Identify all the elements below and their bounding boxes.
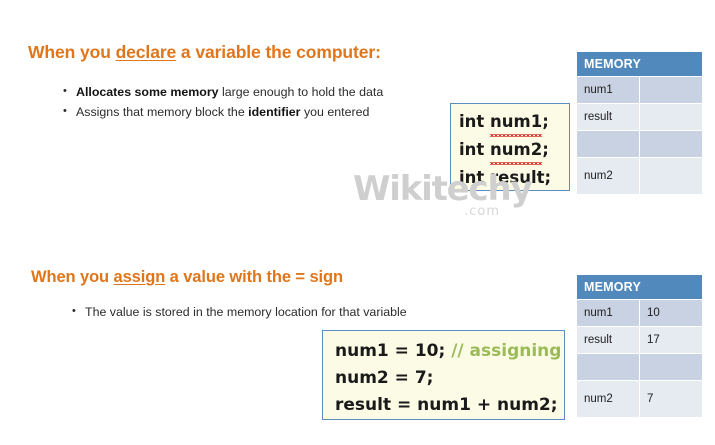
slide-canvas: When you declare a variable the computer… — [0, 0, 715, 445]
bullet-text-pre: Assigns that memory block the — [76, 105, 248, 119]
code-statement: num1 = 10; — [335, 341, 451, 361]
table-row: num1 10 — [577, 300, 702, 326]
code-block-declarations: int num1; int num2; int result; — [450, 103, 570, 191]
list-item: The value is stored in the memory locati… — [72, 302, 407, 322]
memory-cell-name: result — [577, 104, 639, 130]
code-line: int result; — [459, 165, 569, 191]
page-title-declare: When you declare a variable the computer… — [28, 42, 381, 63]
memory-cell-name: num1 — [577, 77, 639, 103]
memory-cell-name: result — [577, 327, 639, 353]
heading-declare-emphasis: declare — [116, 42, 177, 62]
table-row: result — [577, 104, 702, 130]
code-line: result = num1 + num2; — [335, 392, 564, 419]
memory-cell-name: num2 — [577, 381, 639, 417]
bullet-bold-text: Allocates some memory — [76, 85, 219, 99]
watermark-domain: .com — [464, 204, 500, 219]
memory-cell-name — [577, 131, 639, 157]
code-tail: ; — [542, 112, 549, 131]
bullet-text: The value is stored in the memory locati… — [85, 305, 407, 319]
memory-cell-name — [577, 354, 639, 380]
bullet-list-declare: Allocates some memory large enough to ho… — [63, 82, 383, 122]
heading-assign-emphasis: assign — [114, 268, 166, 286]
code-comment: // assigning — [451, 341, 561, 361]
table-row: num1 — [577, 77, 702, 103]
table-header-row: MEMORY — [577, 275, 702, 299]
bullet-text: you entered — [301, 105, 370, 119]
code-keyword: int — [459, 112, 490, 131]
code-line: num2 = 7; — [335, 365, 564, 392]
table-row: result 17 — [577, 327, 702, 353]
heading-declare-after: a variable the computer: — [176, 42, 381, 62]
memory-table-title: MEMORY — [577, 52, 702, 76]
heading-assign-before: When you — [31, 268, 114, 286]
code-line: int num1; — [459, 109, 569, 137]
page-title-assign: When you assign a value with the = sign — [31, 268, 343, 287]
code-line: int num2; — [459, 137, 569, 165]
memory-cell-value — [640, 354, 702, 380]
table-row — [577, 354, 702, 380]
code-identifier-misspelled: num1 — [490, 109, 542, 137]
bullet-text: large enough to hold the data — [219, 85, 384, 99]
memory-cell-name: num1 — [577, 300, 639, 326]
code-identifier-misspelled: result — [490, 165, 544, 191]
table-row: num2 — [577, 158, 702, 194]
memory-table-title: MEMORY — [577, 275, 702, 299]
memory-cell-value — [640, 158, 702, 194]
code-block-assignments: num1 = 10; // assigning num2 = 7; result… — [322, 330, 565, 420]
code-identifier-misspelled: num2 — [490, 137, 542, 165]
table-header-row: MEMORY — [577, 52, 702, 76]
memory-cell-value — [640, 131, 702, 157]
memory-cell-value — [640, 77, 702, 103]
code-keyword: int — [459, 140, 490, 159]
code-statement: num2 = 7; — [335, 368, 433, 388]
memory-cell-value: 17 — [640, 327, 702, 353]
memory-cell-value: 7 — [640, 381, 702, 417]
list-item: Allocates some memory large enough to ho… — [63, 82, 383, 102]
bullet-bold-text: identifier — [248, 105, 300, 119]
code-tail: ; — [542, 140, 549, 159]
table-row: num2 7 — [577, 381, 702, 417]
memory-cell-value: 10 — [640, 300, 702, 326]
code-line: num1 = 10; // assigning — [335, 338, 564, 365]
code-statement: result = num1 + num2; — [335, 395, 558, 415]
code-keyword: int — [459, 168, 490, 187]
bullet-list-assign: The value is stored in the memory locati… — [72, 302, 407, 322]
heading-assign-after: a value with the = sign — [165, 268, 343, 286]
heading-declare-before: When you — [28, 42, 116, 62]
memory-table-declare: MEMORY num1 result num2 — [576, 51, 703, 195]
memory-table-assign: MEMORY num1 10 result 17 num2 7 — [576, 274, 703, 418]
table-row — [577, 131, 702, 157]
list-item: Assigns that memory block the identifier… — [63, 102, 383, 122]
code-tail: ; — [545, 168, 552, 187]
memory-cell-value — [640, 104, 702, 130]
memory-cell-name: num2 — [577, 158, 639, 194]
